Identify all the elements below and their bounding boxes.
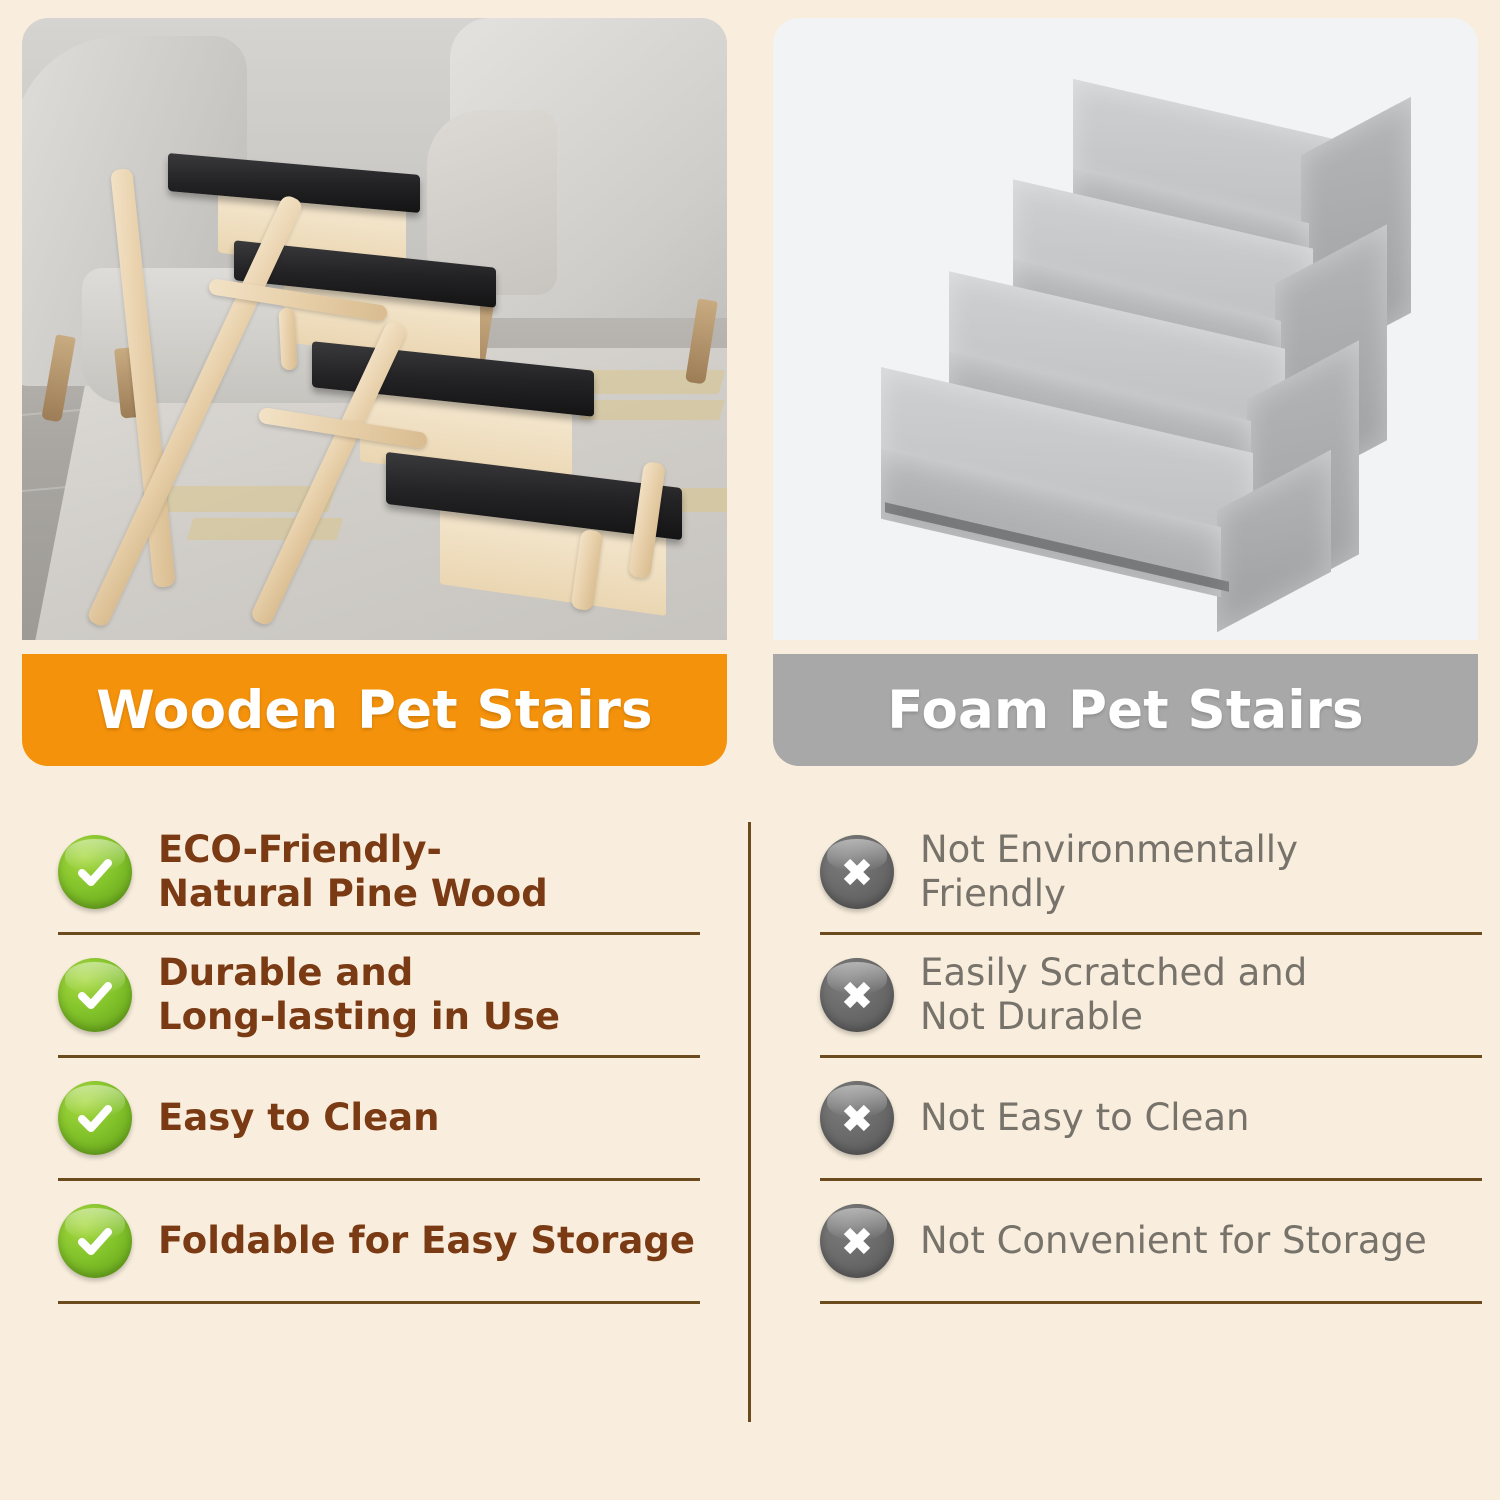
- cons-column: Not Environmentally Friendly Easily Scra…: [748, 812, 1500, 1452]
- banner-foam: Foam Pet Stairs: [773, 654, 1478, 766]
- banner-wooden: Wooden Pet Stairs: [22, 654, 727, 766]
- rug-gold-accent: [579, 400, 725, 420]
- pros-separator: [58, 1301, 700, 1304]
- cons-label: Easily Scratched and Not Durable: [920, 951, 1307, 1038]
- pros-row: Foldable for Easy Storage: [58, 1181, 748, 1301]
- x-circle-icon: [820, 1081, 894, 1155]
- pros-row: Easy to Clean: [58, 1058, 748, 1178]
- cons-row: Not Convenient for Storage: [820, 1181, 1500, 1301]
- pros-label: ECO-Friendly- Natural Pine Wood: [158, 828, 548, 915]
- product-panels: Wooden Pet Stairs: [0, 18, 1500, 778]
- x-circle-icon: [820, 1204, 894, 1278]
- x-circle-icon: [820, 835, 894, 909]
- cons-row: Not Environmentally Friendly: [820, 812, 1500, 932]
- check-circle-icon: [58, 1204, 132, 1278]
- stair-frame-post: [278, 308, 297, 371]
- product-photo-foam: [773, 18, 1478, 640]
- comparison-section: ECO-Friendly- Natural Pine Wood Durable …: [0, 812, 1500, 1452]
- foam-stairs-scene: [773, 18, 1478, 640]
- x-circle-icon: [820, 958, 894, 1032]
- rug-gold-accent: [187, 518, 343, 540]
- pros-label: Foldable for Easy Storage: [158, 1219, 695, 1263]
- pros-row: ECO-Friendly- Natural Pine Wood: [58, 812, 748, 932]
- pros-row: Durable and Long-lasting in Use: [58, 935, 748, 1055]
- check-circle-icon: [58, 1081, 132, 1155]
- cons-separator: [820, 1301, 1482, 1304]
- pros-label: Durable and Long-lasting in Use: [158, 951, 560, 1038]
- product-photo-wooden: [22, 18, 727, 640]
- cons-row: Easily Scratched and Not Durable: [820, 935, 1500, 1055]
- check-circle-icon: [58, 958, 132, 1032]
- product-panel-foam[interactable]: Foam Pet Stairs: [773, 18, 1478, 778]
- pros-label: Easy to Clean: [158, 1096, 440, 1140]
- cons-label: Not Easy to Clean: [920, 1096, 1249, 1140]
- check-circle-icon: [58, 835, 132, 909]
- pros-column: ECO-Friendly- Natural Pine Wood Durable …: [0, 812, 748, 1452]
- wooden-stairs-scene: [22, 18, 727, 640]
- cons-label: Not Environmentally Friendly: [920, 828, 1298, 915]
- cons-row: Not Easy to Clean: [820, 1058, 1500, 1178]
- product-panel-wooden[interactable]: Wooden Pet Stairs: [22, 18, 727, 778]
- cons-label: Not Convenient for Storage: [920, 1219, 1427, 1263]
